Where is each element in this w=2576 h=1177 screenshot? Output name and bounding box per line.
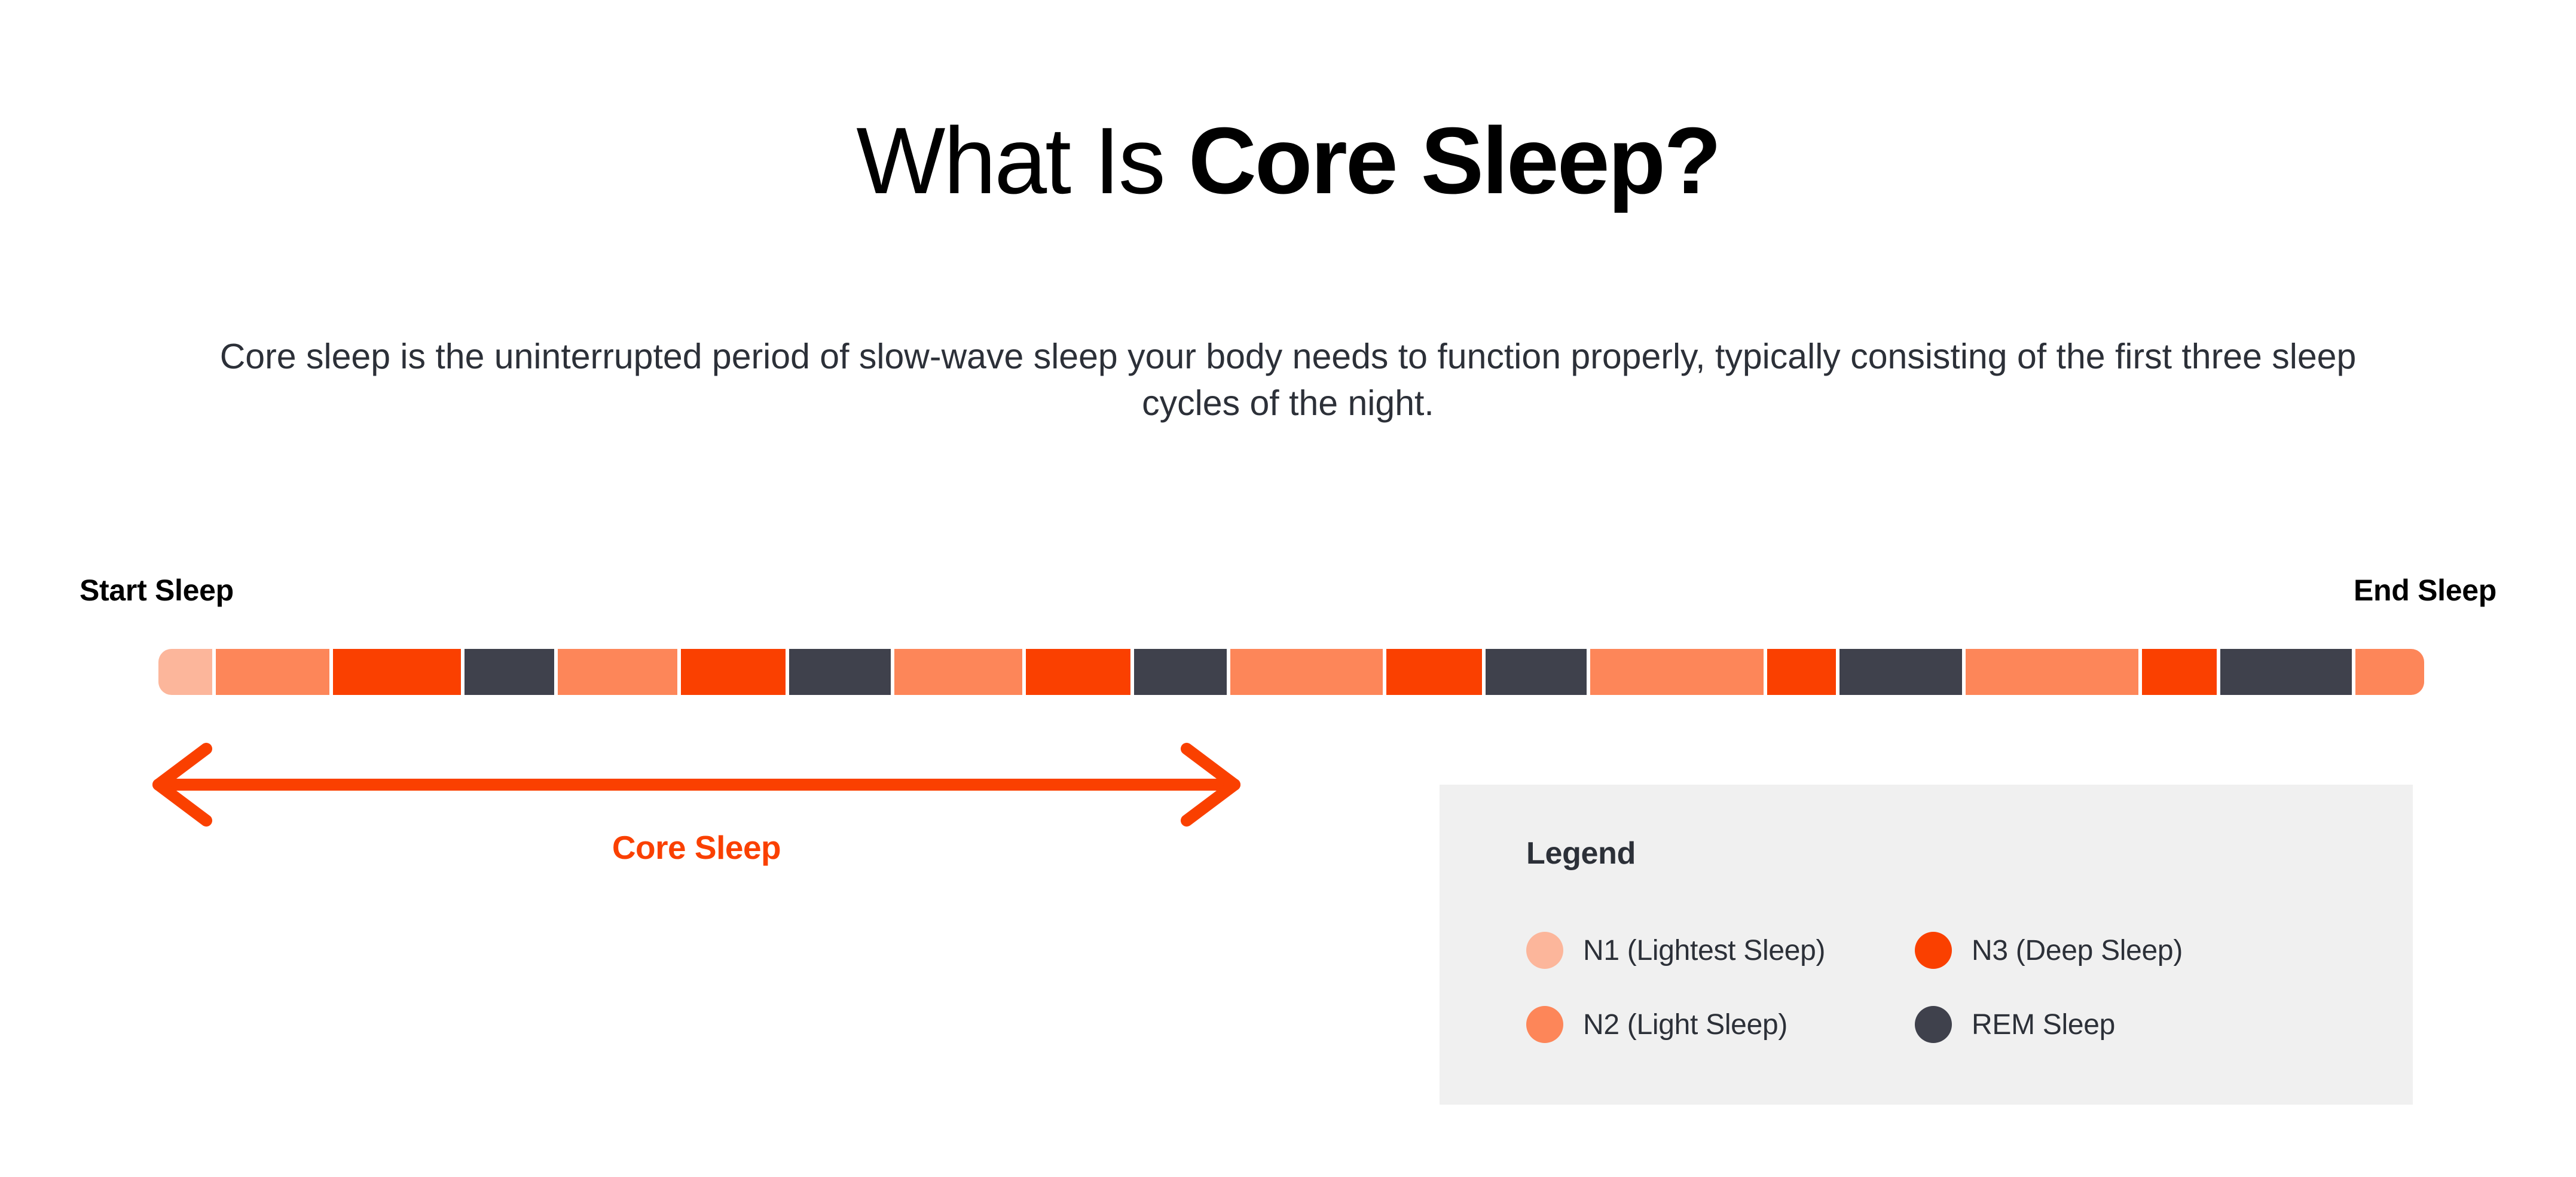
legend-item-n2: N2 (Light Sleep) [1526,987,1897,1062]
legend-swatch-n3-icon [1915,932,1952,969]
hypnogram-segment-rem [1134,649,1227,695]
sleep-hypnogram-bar [158,649,2424,695]
legend-items: N1 (Lightest Sleep)N3 (Deep Sleep)N2 (Li… [1526,913,2363,1062]
legend-item-n1: N1 (Lightest Sleep) [1526,913,1897,987]
legend-panel: Legend N1 (Lightest Sleep)N3 (Deep Sleep… [1440,785,2413,1105]
page-subtitle: Core sleep is the uninterrupted period o… [182,333,2394,427]
start-sleep-label: Start Sleep [80,573,234,608]
legend-label: REM Sleep [1972,1008,2115,1041]
legend-label: N1 (Lightest Sleep) [1583,934,1825,967]
hypnogram-segment-n3 [681,649,786,695]
hypnogram-segment-n2 [216,649,329,695]
legend-swatch-rem-icon [1915,1006,1952,1043]
hypnogram-segment-rem [2220,649,2352,695]
hypnogram-segment-n2 [894,649,1023,695]
end-sleep-label: End Sleep [2354,573,2496,608]
hypnogram-segment-rem [465,649,554,695]
core-sleep-arrow [137,737,1255,833]
legend-label: N3 (Deep Sleep) [1972,934,2183,967]
hypnogram-segment-n3 [1386,649,1482,695]
hypnogram-segment-n3 [1026,649,1130,695]
core-sleep-label: Core Sleep [137,828,1255,867]
legend-heading: Legend [1526,836,1636,871]
legend-swatch-n1-icon [1526,932,1563,969]
hypnogram-segment-n2 [558,649,677,695]
hypnogram-segment-rem [1839,649,1962,695]
page-title: What Is Core Sleep? [0,114,2576,208]
legend-item-rem: REM Sleep [1915,987,2285,1062]
hypnogram-segment-n2 [1230,649,1383,695]
legend-swatch-n2-icon [1526,1006,1563,1043]
legend-label: N2 (Light Sleep) [1583,1008,1787,1041]
hypnogram-segment-rem [1486,649,1587,695]
hypnogram-segment-n3 [333,649,462,695]
hypnogram-segment-n2 [1966,649,2139,695]
hypnogram-segment-n3 [2142,649,2217,695]
hypnogram-segment-n3 [1767,649,1836,695]
hypnogram-segment-n2 [2355,649,2424,695]
page-title-plain: What Is [856,108,1188,214]
hypnogram-segment-n1 [158,649,212,695]
hypnogram-segment-rem [789,649,891,695]
legend-item-n3: N3 (Deep Sleep) [1915,913,2285,987]
hypnogram-segment-n2 [1590,649,1764,695]
page-title-emphasis: Core Sleep? [1188,108,1720,214]
